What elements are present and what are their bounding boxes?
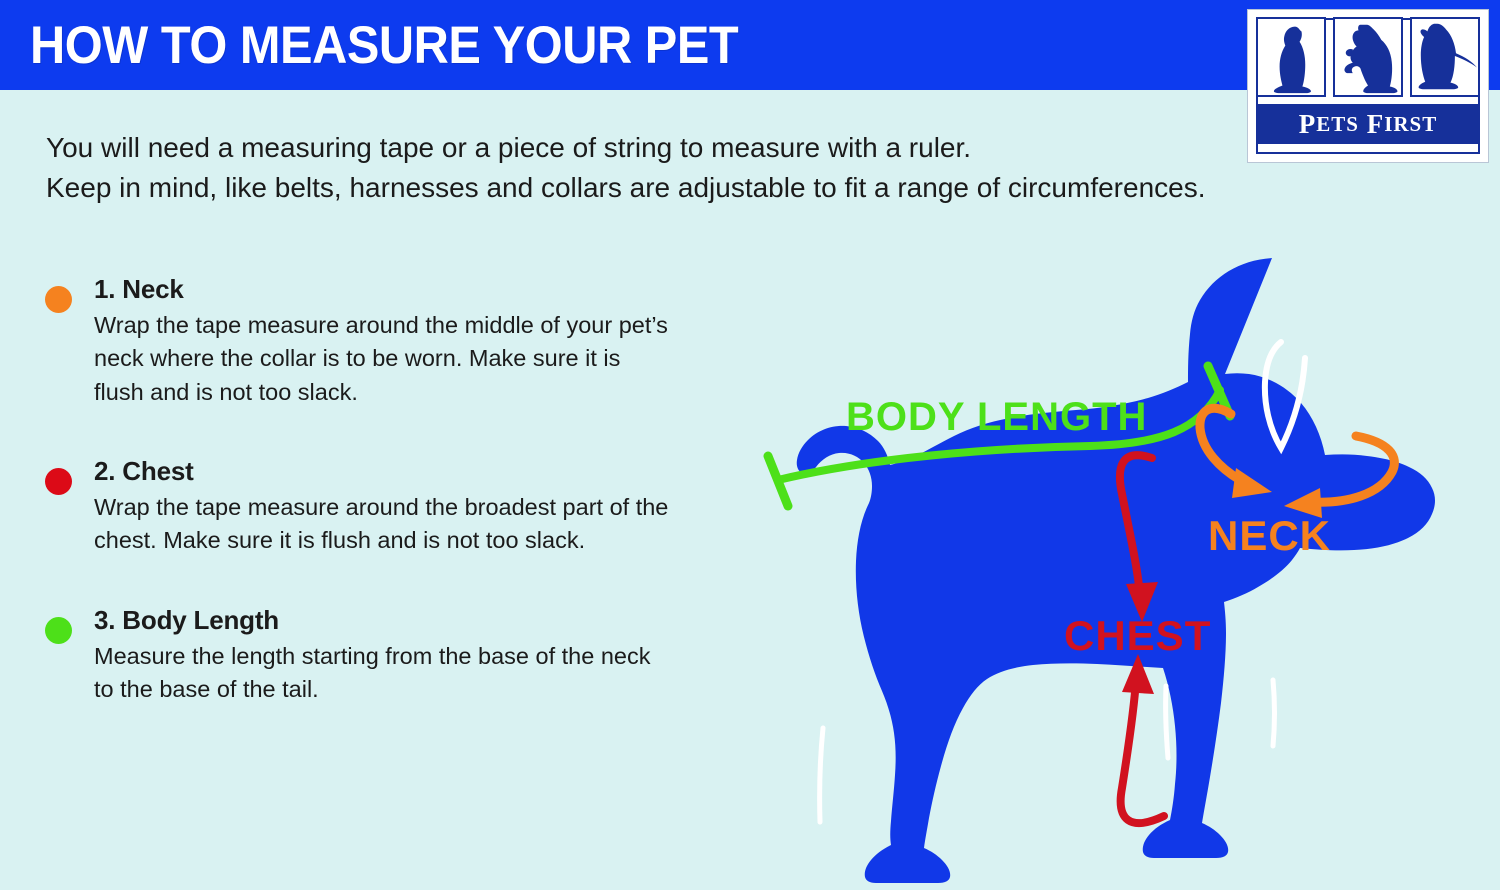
page-title: HOW TO MEASURE YOUR PET — [30, 15, 738, 76]
dog-silhouette-icon — [797, 258, 1435, 883]
step-body-length: 3. Body Length Measure the length starti… — [42, 601, 682, 707]
intro-text: You will need a measuring tape or a piec… — [46, 128, 1336, 208]
step-dot-neck — [45, 286, 72, 313]
logo-word-first-irst: IRST — [1384, 112, 1437, 137]
label-chest: CHEST — [1064, 612, 1211, 659]
label-body-length: BODY LENGTH — [846, 395, 1147, 439]
logo-word-first-f: F — [1367, 109, 1385, 140]
dog-measurement-diagram: BODY LENGTH NECK CHEST — [660, 250, 1500, 890]
step-body-neck: Wrap the tape measure around the middle … — [94, 309, 669, 409]
steps-list: 1. Neck Wrap the tape measure around the… — [42, 270, 682, 750]
step-dot-chest — [45, 468, 72, 495]
logo-dog-panels — [1256, 17, 1480, 97]
label-neck: NECK — [1208, 512, 1331, 559]
logo-dog-standing-icon — [1410, 17, 1480, 97]
dog-front-leg-line — [1166, 686, 1168, 758]
step-dot-body-length — [45, 617, 72, 644]
step-body-body-length: Measure the length starting from the bas… — [94, 640, 669, 707]
step-body-chest: Wrap the tape measure around the broades… — [94, 491, 669, 558]
dog-hind-leg-line — [1273, 680, 1275, 746]
intro-line-2: Keep in mind, like belts, harnesses and … — [46, 168, 1336, 208]
step-title-chest: 2. Chest — [94, 452, 682, 491]
dog-back-leg-line — [820, 728, 823, 822]
step-title-neck: 1. Neck — [94, 270, 682, 309]
logo-dog-sitting-icon — [1256, 17, 1326, 97]
intro-line-1: You will need a measuring tape or a piec… — [46, 128, 1336, 168]
logo-dog-begging-icon — [1333, 17, 1403, 97]
step-title-body-length: 3. Body Length — [94, 601, 682, 640]
step-neck: 1. Neck Wrap the tape measure around the… — [42, 270, 682, 409]
step-chest: 2. Chest Wrap the tape measure around th… — [42, 452, 682, 558]
